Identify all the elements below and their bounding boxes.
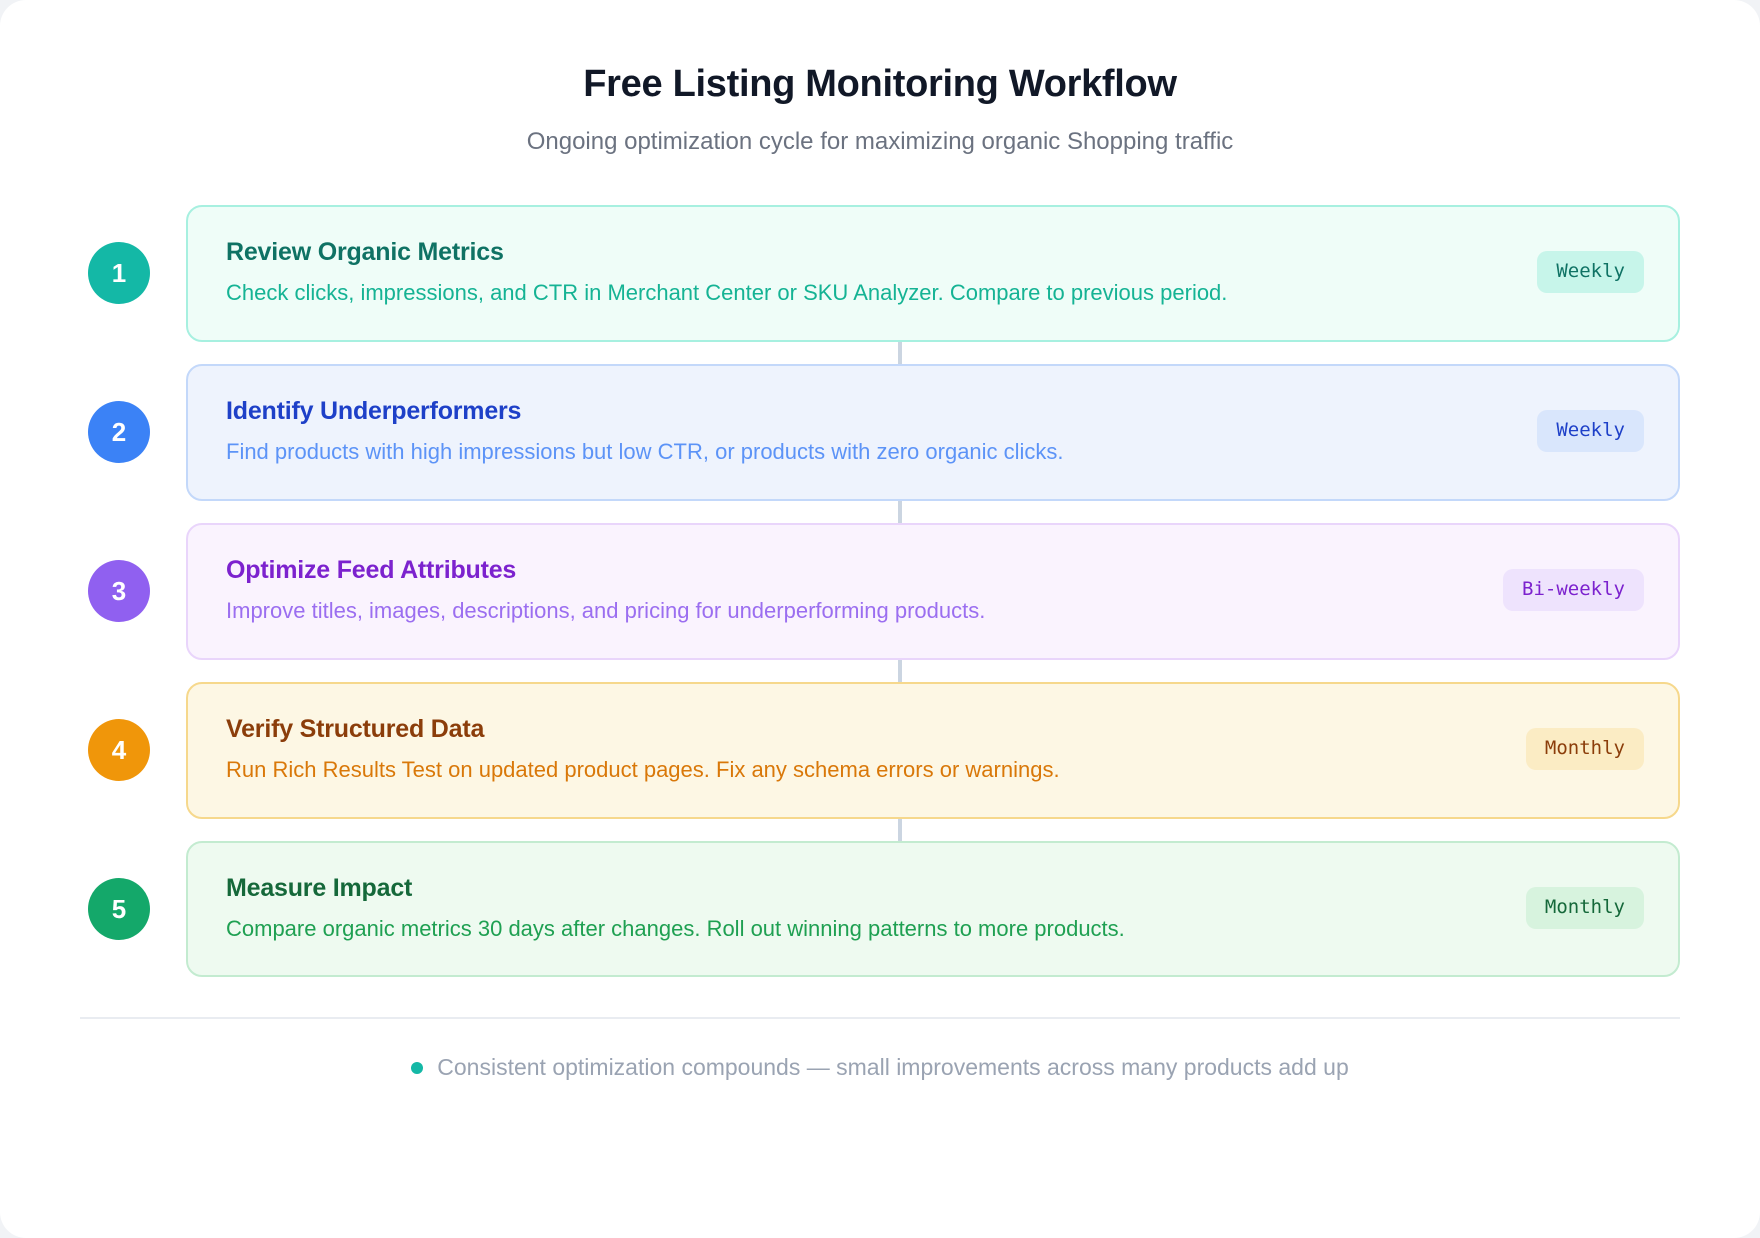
step-card-text: Optimize Feed AttributesImprove titles, … (226, 555, 1503, 626)
step-number-circle: 3 (88, 560, 150, 622)
step-title: Identify Underperformers (226, 396, 1509, 427)
footer-note-row: Consistent optimization compounds — smal… (80, 1017, 1680, 1083)
step-number-circle: 1 (88, 242, 150, 304)
step-number-circle: 2 (88, 401, 150, 463)
step-card[interactable]: Optimize Feed AttributesImprove titles, … (186, 523, 1680, 660)
step-card-text: Review Organic MetricsCheck clicks, impr… (226, 237, 1537, 308)
step-description: Compare organic metrics 30 days after ch… (226, 914, 1498, 944)
step-number-circle: 5 (88, 878, 150, 940)
workflow-step[interactable]: 2Identify UnderperformersFind products w… (0, 364, 1680, 501)
step-cadence-badge: Monthly (1526, 728, 1644, 770)
step-title: Review Organic Metrics (226, 237, 1509, 268)
step-card[interactable]: Measure ImpactCompare organic metrics 30… (186, 841, 1680, 978)
bullet-dot-icon (411, 1062, 423, 1074)
step-card-text: Measure ImpactCompare organic metrics 30… (226, 873, 1526, 944)
step-description: Run Rich Results Test on updated product… (226, 755, 1498, 785)
step-title: Verify Structured Data (226, 714, 1498, 745)
step-card-text: Verify Structured DataRun Rich Results T… (226, 714, 1526, 785)
step-description: Find products with high impressions but … (226, 437, 1509, 467)
step-card-text: Identify UnderperformersFind products wi… (226, 396, 1537, 467)
workflow-step[interactable]: 4Verify Structured DataRun Rich Results … (0, 682, 1680, 819)
step-description: Improve titles, images, descriptions, an… (226, 596, 1475, 626)
step-title: Measure Impact (226, 873, 1498, 904)
workflow-step[interactable]: 1Review Organic MetricsCheck clicks, imp… (0, 205, 1680, 342)
step-title: Optimize Feed Attributes (226, 555, 1475, 586)
step-number-circle: 4 (88, 719, 150, 781)
page-title: Free Listing Monitoring Workflow (0, 62, 1760, 108)
step-cadence-badge: Monthly (1526, 887, 1644, 929)
footer-note-text: Consistent optimization compounds — smal… (437, 1053, 1348, 1083)
step-cadence-badge: Weekly (1537, 251, 1644, 293)
page-header: Free Listing Monitoring Workflow Ongoing… (0, 0, 1760, 157)
step-cadence-badge: Bi-weekly (1503, 569, 1644, 611)
step-description: Check clicks, impressions, and CTR in Me… (226, 278, 1509, 308)
workflow-page: Free Listing Monitoring Workflow Ongoing… (0, 0, 1760, 1238)
workflow-steps-list: 1Review Organic MetricsCheck clicks, imp… (0, 205, 1760, 978)
workflow-step[interactable]: 5Measure ImpactCompare organic metrics 3… (0, 841, 1680, 978)
page-subtitle: Ongoing optimization cycle for maximizin… (0, 126, 1760, 157)
step-cadence-badge: Weekly (1537, 410, 1644, 452)
workflow-step[interactable]: 3Optimize Feed AttributesImprove titles,… (0, 523, 1680, 660)
step-card[interactable]: Verify Structured DataRun Rich Results T… (186, 682, 1680, 819)
step-card[interactable]: Identify UnderperformersFind products wi… (186, 364, 1680, 501)
step-card[interactable]: Review Organic MetricsCheck clicks, impr… (186, 205, 1680, 342)
